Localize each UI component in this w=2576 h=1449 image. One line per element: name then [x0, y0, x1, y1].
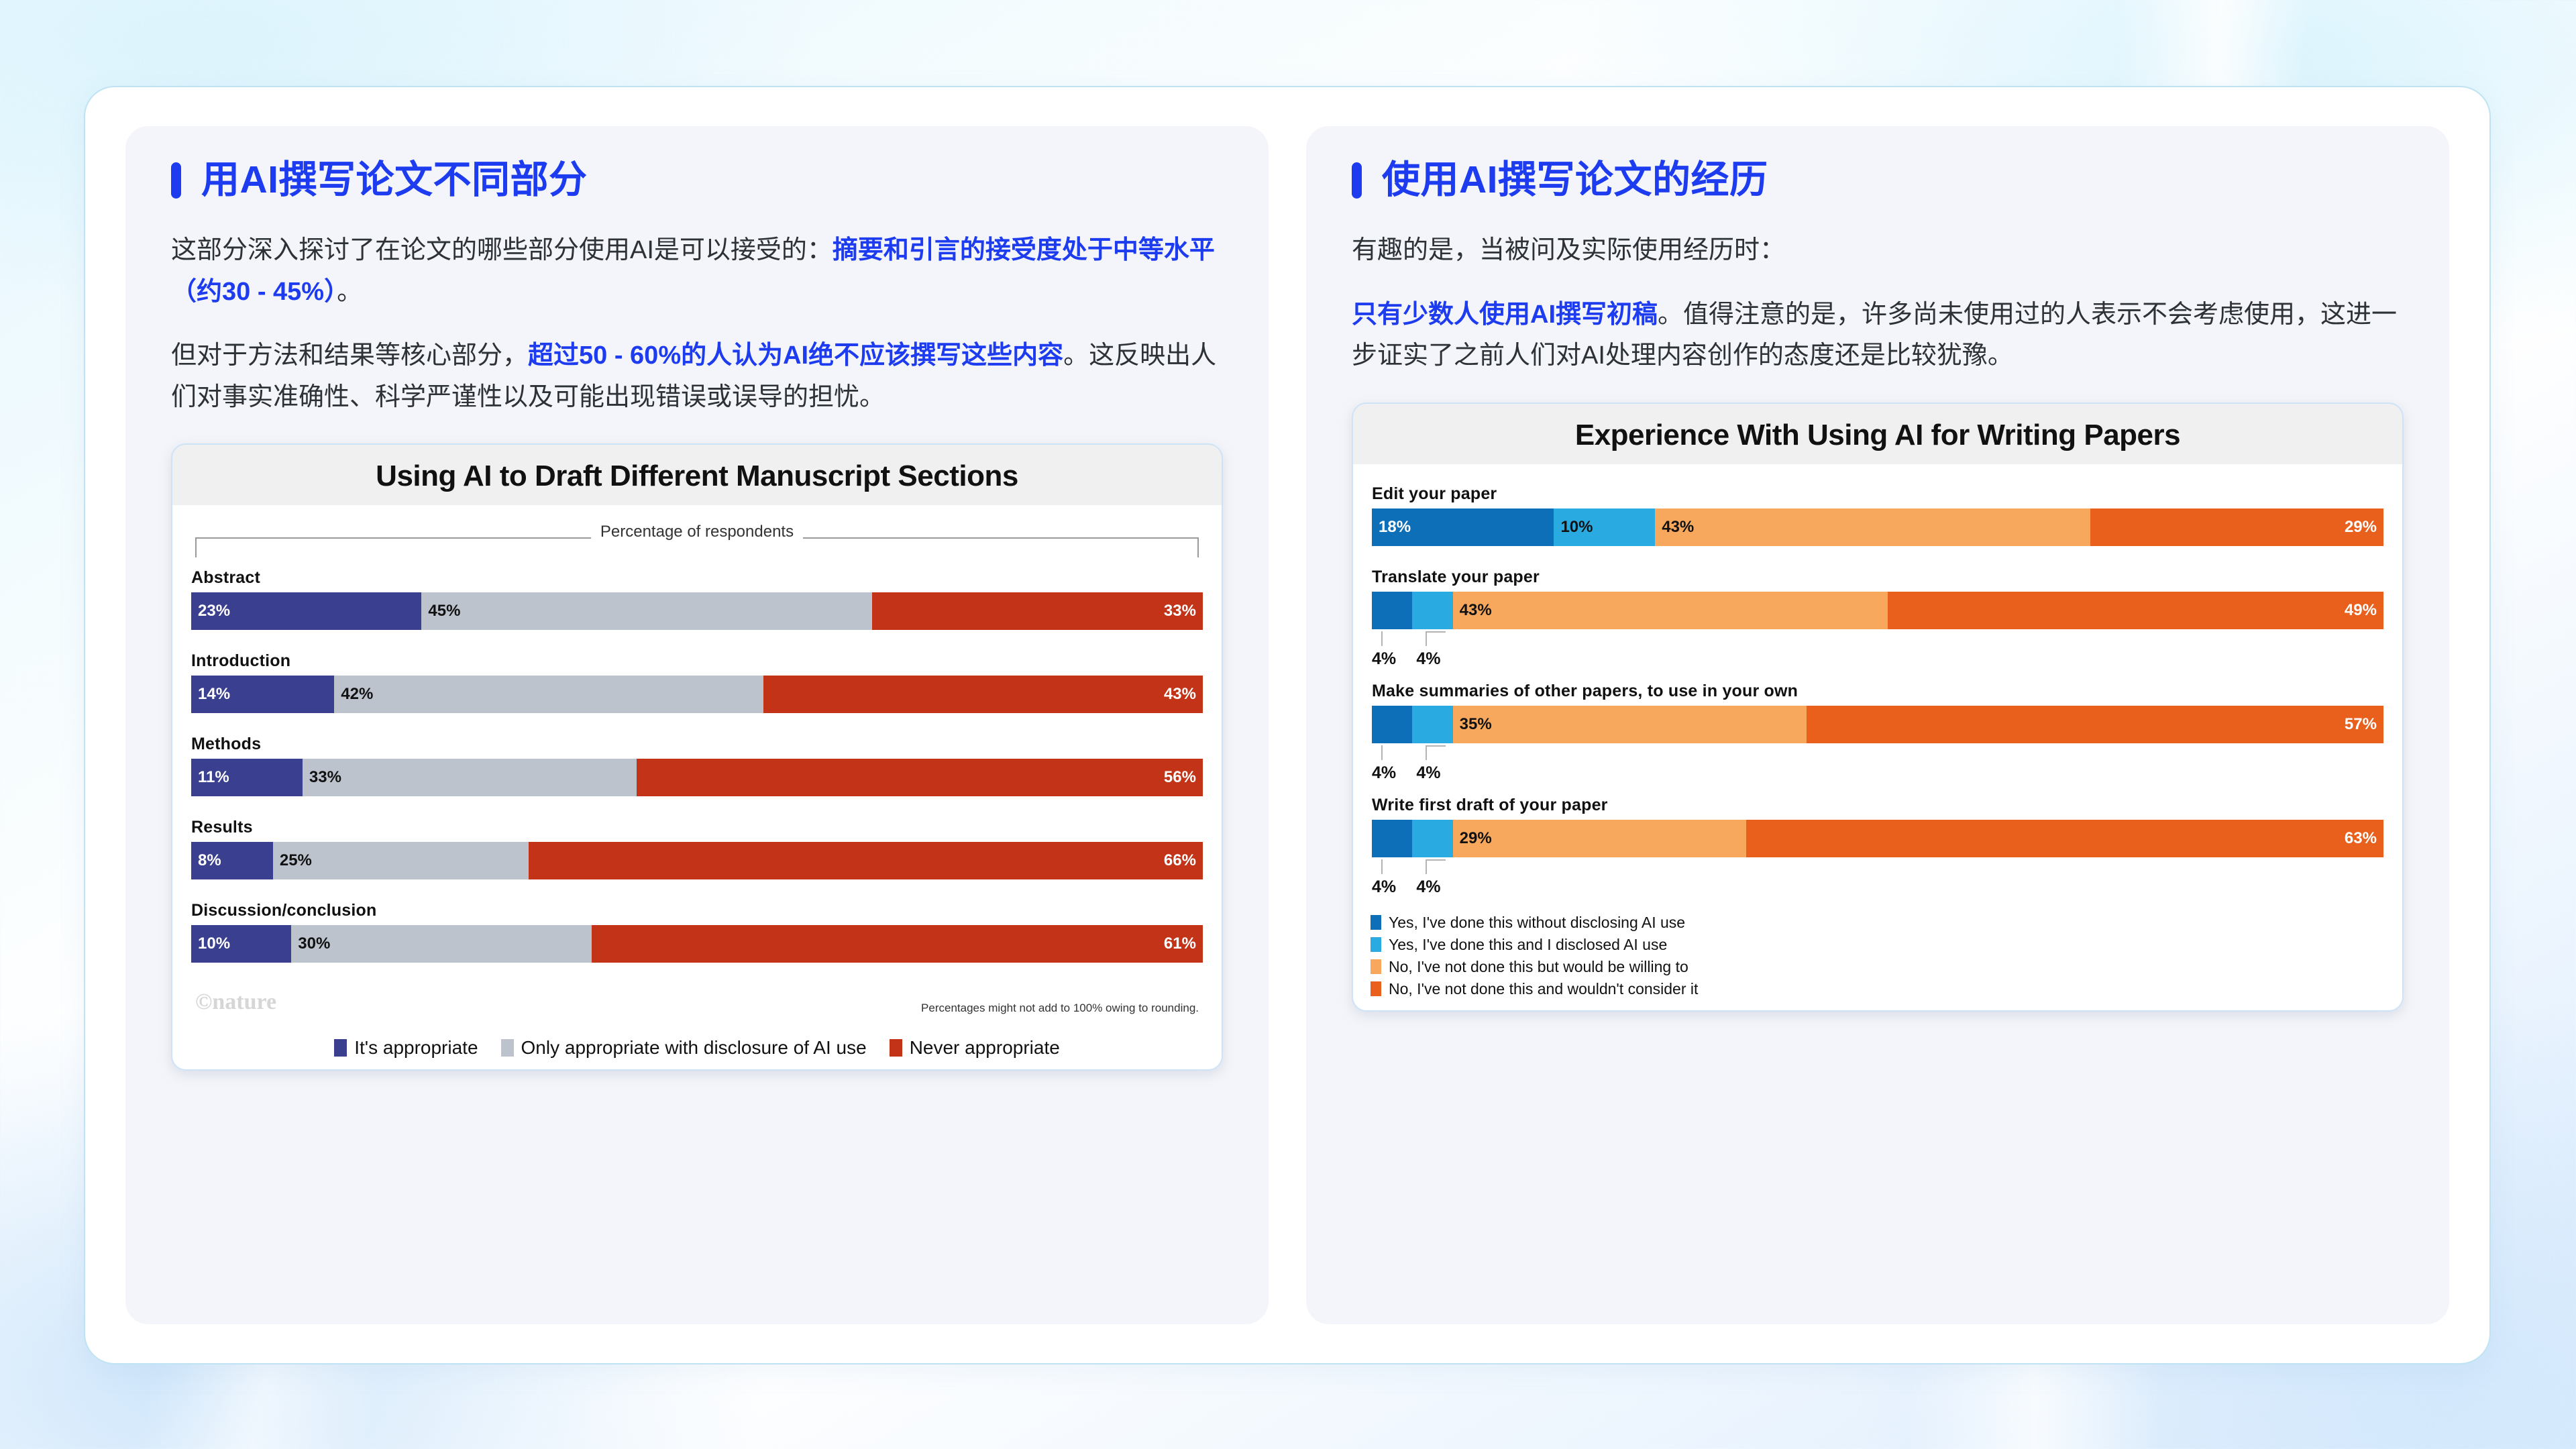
left-panel-heading: 用AI撰写论文不同部分 — [171, 161, 1223, 199]
body-text: 但对于方法和结果等核心部分， — [171, 341, 528, 370]
bar-segment: 35% — [1453, 706, 1807, 743]
bar-segment: 45% — [421, 592, 872, 630]
chart-legend: Yes, I've done this without disclosing A… — [1353, 907, 2402, 1010]
stacked-bar: 11%33%56% — [191, 759, 1203, 796]
bar-segment: 57% — [1807, 706, 2383, 743]
heading-accent-bar — [171, 162, 181, 199]
paragraph: 但对于方法和结果等核心部分，超过50 - 60%的人认为AI绝不应该撰写这些内容… — [171, 335, 1223, 418]
legend-swatch — [501, 1039, 514, 1057]
bar-segment — [1372, 820, 1412, 857]
bar-segment: 8% — [191, 842, 273, 879]
right-panel: 使用AI撰写论文的经历 有趣的是，当被问及实际使用经历时：只有少数人使用AI撰写… — [1306, 126, 2449, 1324]
chart-legend: It's appropriateOnly appropriate with di… — [172, 1027, 1222, 1069]
callout-label: 4% — [1416, 763, 1440, 783]
bar-value-label: 33% — [303, 768, 348, 787]
legend-swatch — [334, 1039, 347, 1057]
highlighted-text: 只有少数人使用AI撰写初稿 — [1352, 301, 1658, 329]
callout-leader — [1381, 631, 1383, 646]
legend-item: It's appropriate — [334, 1037, 478, 1059]
stacked-bar: 29%63% — [1372, 820, 2383, 857]
axis-label: Percentage of respondents — [195, 523, 1199, 541]
legend-item: No, I've not done this but would be will… — [1371, 958, 2385, 976]
callout-leader — [1426, 631, 1446, 646]
callout-leader — [1426, 745, 1446, 760]
right-panel-heading: 使用AI撰写论文的经历 — [1352, 161, 2404, 199]
stacked-bar: 10%30%61% — [191, 925, 1203, 963]
highlighted-text: 超过50 - 60%的人认为AI绝不应该撰写这些内容 — [528, 341, 1063, 370]
bar-value-label: 43% — [1655, 518, 1701, 537]
legend-label: It's appropriate — [354, 1037, 478, 1059]
legend-item: Never appropriate — [890, 1037, 1060, 1059]
bar-segment: 66% — [529, 842, 1203, 879]
bar-value-label: 57% — [2338, 715, 2383, 734]
legend-label: Only appropriate with disclosure of AI u… — [521, 1037, 867, 1059]
bar-segment: 23% — [191, 592, 421, 630]
body-text: 有趣的是，当被问及实际使用经历时： — [1352, 236, 1785, 264]
bar-segment: 33% — [303, 759, 637, 796]
bar-value-label: 29% — [1453, 829, 1499, 848]
bar-segment: 33% — [872, 592, 1203, 630]
category-label: Translate your paper — [1372, 568, 2383, 587]
legend-item: Yes, I've done this and I disclosed AI u… — [1371, 936, 2385, 954]
legend-swatch — [1371, 981, 1381, 996]
bar-segment: 61% — [592, 925, 1203, 963]
bar-segment — [1412, 592, 1452, 629]
bar-value-label: 45% — [421, 602, 467, 621]
bar-row-spacer — [191, 713, 1203, 725]
bar-callouts: 4%4% — [1372, 857, 2383, 900]
bar-value-label: 18% — [1372, 518, 1417, 537]
callout-leader — [1381, 745, 1383, 760]
content-card: 用AI撰写论文不同部分 这部分深入探讨了在论文的哪些部分使用AI是可以接受的：摘… — [84, 86, 2491, 1364]
bar-segment: 14% — [191, 676, 334, 713]
bar-segment: 11% — [191, 759, 303, 796]
category-label: Abstract — [191, 568, 1203, 588]
stacked-bar: 35%57% — [1372, 706, 2383, 743]
body-text: 这部分深入探讨了在论文的哪些部分使用AI是可以接受的： — [171, 236, 833, 264]
two-column-layout: 用AI撰写论文不同部分 这部分深入探讨了在论文的哪些部分使用AI是可以接受的：摘… — [85, 87, 2489, 1363]
bar-value-label: 33% — [1157, 602, 1203, 621]
bar-value-label: 49% — [2338, 601, 2383, 620]
axis-label-bracket: Percentage of respondents — [195, 520, 1199, 559]
legend-swatch — [1371, 915, 1381, 930]
paragraph: 只有少数人使用AI撰写初稿。值得注意的是，许多尚未使用过的人表示不会考虑使用，这… — [1352, 294, 2404, 377]
chart-experience-using-ai: Experience With Using AI for Writing Pap… — [1352, 402, 2404, 1012]
bar-segment: 49% — [1888, 592, 2383, 629]
bar-segment: 43% — [763, 676, 1203, 713]
chart-plot-area: Percentage of respondentsAbstract23%45%3… — [172, 505, 1222, 1027]
bar-value-label: 10% — [1554, 518, 1599, 537]
legend-swatch — [890, 1039, 902, 1057]
stacked-bar: 14%42%43% — [191, 676, 1203, 713]
chart-manuscript-sections: Using AI to Draft Different Manuscript S… — [171, 443, 1223, 1071]
legend-label: Yes, I've done this and I disclosed AI u… — [1389, 936, 1667, 954]
right-chart-wrap: Experience With Using AI for Writing Pap… — [1352, 402, 2404, 1012]
paragraph: 有趣的是，当被问及实际使用经历时： — [1352, 230, 2404, 272]
chart-footnote: Percentages might not add to 100% owing … — [921, 1002, 1199, 1015]
bar-callouts: 4%4% — [1372, 743, 2383, 786]
legend-swatch — [1371, 937, 1381, 952]
left-panel-title: 用AI撰写论文不同部分 — [201, 161, 588, 199]
legend-label: No, I've not done this and wouldn't cons… — [1389, 980, 1698, 998]
bar-row-spacer — [191, 963, 1203, 975]
callout-leader — [1426, 859, 1446, 874]
chart-title: Using AI to Draft Different Manuscript S… — [172, 445, 1222, 505]
bar-segment: 18% — [1372, 508, 1554, 546]
bar-segment — [1372, 592, 1412, 629]
bar-value-label: 63% — [2338, 829, 2383, 848]
legend-label: Never appropriate — [910, 1037, 1060, 1059]
bar-value-label: 56% — [1157, 768, 1203, 787]
bar-value-label: 43% — [1453, 601, 1499, 620]
legend-swatch — [1371, 959, 1381, 974]
legend-label: No, I've not done this but would be will… — [1389, 958, 1688, 976]
bar-value-label: 11% — [191, 768, 236, 787]
bar-value-label: 14% — [191, 685, 237, 704]
bar-row-spacer — [1372, 546, 2383, 558]
category-label: Results — [191, 818, 1203, 837]
nature-watermark: ©nature — [195, 989, 276, 1015]
bar-segment: 29% — [2090, 508, 2383, 546]
callout-label: 4% — [1416, 877, 1440, 897]
bar-segment: 30% — [291, 925, 592, 963]
bar-value-label: 10% — [191, 934, 237, 953]
left-chart-wrap: Using AI to Draft Different Manuscript S… — [171, 443, 1223, 1071]
paragraph: 这部分深入探讨了在论文的哪些部分使用AI是可以接受的：摘要和引言的接受度处于中等… — [171, 230, 1223, 313]
bar-segment: 56% — [637, 759, 1203, 796]
bar-segment: 43% — [1453, 592, 1888, 629]
category-label: Methods — [191, 735, 1203, 754]
category-label: Make summaries of other papers, to use i… — [1372, 682, 2383, 701]
heading-accent-bar — [1352, 162, 1362, 199]
right-panel-body: 有趣的是，当被问及实际使用经历时：只有少数人使用AI撰写初稿。值得注意的是，许多… — [1352, 230, 2404, 377]
category-label: Discussion/conclusion — [191, 901, 1203, 920]
bar-callouts: 4%4% — [1372, 629, 2383, 672]
bar-segment — [1372, 706, 1412, 743]
bar-segment — [1412, 706, 1452, 743]
bar-segment: 25% — [273, 842, 529, 879]
bar-value-label: 35% — [1453, 715, 1499, 734]
stacked-bar: 43%49% — [1372, 592, 2383, 629]
bar-segment: 42% — [334, 676, 763, 713]
bar-value-label: 61% — [1157, 934, 1203, 953]
chart-footer: ©naturePercentages might not add to 100%… — [191, 975, 1203, 1020]
bar-segment: 10% — [1554, 508, 1655, 546]
legend-label: Yes, I've done this without disclosing A… — [1389, 914, 1685, 932]
body-text: 。 — [337, 278, 362, 306]
bar-value-label: 42% — [334, 685, 380, 704]
bar-value-label: 25% — [273, 851, 319, 870]
bar-segment — [1412, 820, 1452, 857]
category-label: Introduction — [191, 651, 1203, 671]
category-label: Edit your paper — [1372, 484, 2383, 504]
bar-segment: 29% — [1453, 820, 1746, 857]
bar-value-label: 8% — [191, 851, 228, 870]
bar-value-label: 30% — [291, 934, 337, 953]
callout-label: 4% — [1372, 649, 1396, 669]
right-panel-title: 使用AI撰写论文的经历 — [1382, 161, 1768, 199]
callout-leader — [1381, 859, 1383, 874]
callout-label: 4% — [1416, 649, 1440, 669]
legend-item: Only appropriate with disclosure of AI u… — [501, 1037, 867, 1059]
chart-title: Experience With Using AI for Writing Pap… — [1353, 404, 2402, 464]
stacked-bar: 18%10%43%29% — [1372, 508, 2383, 546]
bar-row-spacer — [191, 796, 1203, 808]
bar-value-label: 29% — [2338, 518, 2383, 537]
chart-plot-area: Edit your paper18%10%43%29%Translate you… — [1353, 464, 2402, 907]
bar-segment: 10% — [191, 925, 291, 963]
left-panel-body: 这部分深入探讨了在论文的哪些部分使用AI是可以接受的：摘要和引言的接受度处于中等… — [171, 230, 1223, 418]
stacked-bar: 23%45%33% — [191, 592, 1203, 630]
stacked-bar: 8%25%66% — [191, 842, 1203, 879]
left-panel: 用AI撰写论文不同部分 这部分深入探讨了在论文的哪些部分使用AI是可以接受的：摘… — [125, 126, 1269, 1324]
bar-row-spacer — [191, 630, 1203, 642]
legend-item: No, I've not done this and wouldn't cons… — [1371, 980, 2385, 998]
legend-item: Yes, I've done this without disclosing A… — [1371, 914, 2385, 932]
bar-segment: 43% — [1655, 508, 2090, 546]
bar-row-spacer — [191, 879, 1203, 892]
bar-segment: 63% — [1746, 820, 2383, 857]
category-label: Write first draft of your paper — [1372, 796, 2383, 815]
callout-label: 4% — [1372, 877, 1396, 897]
bar-value-label: 43% — [1157, 685, 1203, 704]
bar-value-label: 66% — [1157, 851, 1203, 870]
bar-value-label: 23% — [191, 602, 237, 621]
callout-label: 4% — [1372, 763, 1396, 783]
